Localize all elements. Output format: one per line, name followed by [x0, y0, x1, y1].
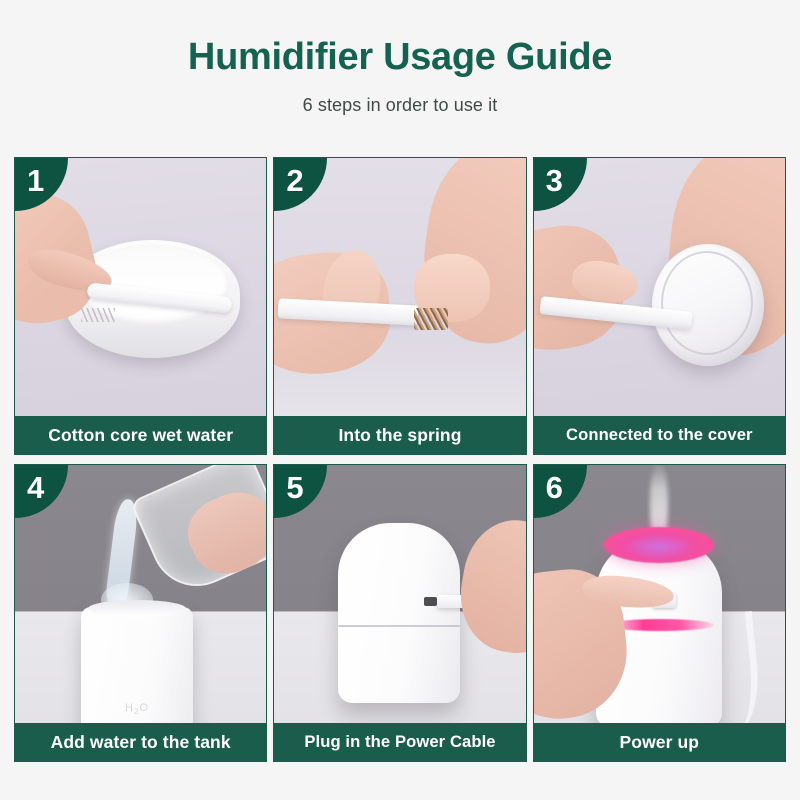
step-number-badge-4: 4: [15, 465, 68, 518]
step-1-photo: 1: [15, 158, 266, 416]
step-caption-3: Connected to the cover: [534, 416, 785, 454]
steps-grid: 1 Cotton core wet water 2: [14, 157, 786, 762]
humidifier-usage-guide-page: Humidifier Usage Guide 6 steps in order …: [0, 0, 800, 800]
step-number-badge-5: 5: [274, 465, 327, 518]
glass-pitcher: [130, 465, 266, 601]
hand: [452, 512, 526, 661]
step-4-photo: 4 H2O: [15, 465, 266, 723]
page-title: Humidifier Usage Guide: [0, 38, 800, 78]
step-caption-6: Power up: [534, 723, 785, 761]
humidifier-cover: [652, 244, 764, 366]
step-caption-1: Cotton core wet water: [15, 416, 266, 454]
step-caption-2: Into the spring: [274, 416, 525, 454]
step-number-badge-2: 2: [274, 158, 327, 211]
step-3-photo: 3: [534, 158, 785, 416]
step-6-photo: 6: [534, 465, 785, 723]
step-card-3[interactable]: 3 Connected to the cover: [533, 157, 786, 455]
step-card-1[interactable]: 1 Cotton core wet water: [14, 157, 267, 455]
water-tank: H2O: [81, 607, 193, 723]
page-header: Humidifier Usage Guide 6 steps in order …: [0, 0, 800, 116]
usb-port: [424, 597, 437, 606]
step-caption-4: Add water to the tank: [15, 723, 266, 761]
step-number-badge-6: 6: [534, 465, 587, 518]
led-glow-top: [604, 527, 714, 563]
step-card-4[interactable]: 4 H2O Add water to the tank: [14, 464, 267, 762]
humidifier-body: [338, 523, 460, 703]
step-card-6[interactable]: 6 Power up: [533, 464, 786, 762]
holding-hand: [178, 481, 267, 585]
step-card-2[interactable]: 2 Into the spring: [273, 157, 526, 455]
step-caption-5: Plug in the Power Cable: [274, 723, 525, 761]
tank-h2o-label: H2O: [81, 702, 193, 716]
step-card-5[interactable]: 5 Plug in the Power Cable: [273, 464, 526, 762]
step-2-photo: 2: [274, 158, 525, 416]
spring-coil: [81, 308, 115, 322]
step-number-badge-3: 3: [534, 158, 587, 211]
step-5-photo: 5: [274, 465, 525, 723]
spring-coil: [414, 308, 448, 330]
page-subtitle: 6 steps in order to use it: [0, 95, 800, 116]
humidifier-seam: [338, 625, 460, 627]
